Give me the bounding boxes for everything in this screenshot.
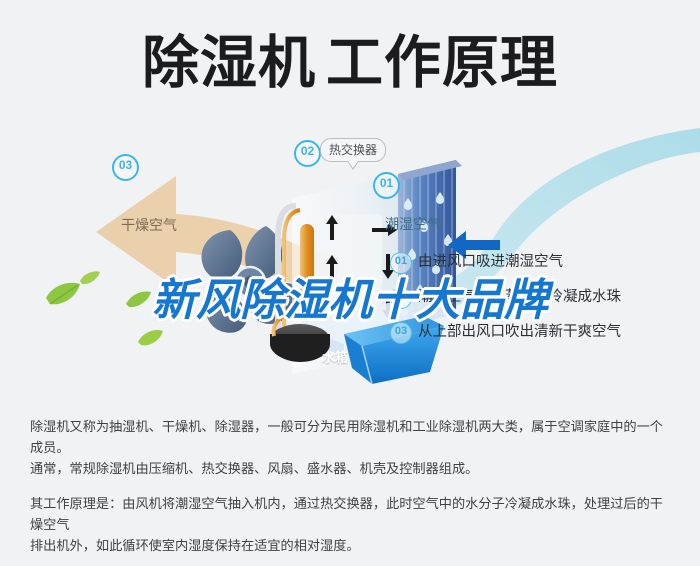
legend-item-01: 01 由进风口吸进潮湿空气 (390, 252, 690, 274)
page-title: 除湿机工作原理 (0, 28, 700, 98)
paragraph-1-line-1: 除湿机又称为抽湿机、干燥机、除湿器，一般可分为民用除湿机和工业除湿机两大类，属于… (30, 416, 676, 458)
paragraph-2-line-2: 排出机外，如此循环使室内湿度保持在适宜的相对湿度。 (30, 535, 676, 556)
heat-exchanger-callout: 热交换器 (320, 138, 386, 162)
paragraph-1-line-2: 通常，常规除湿机由压缩机、热交换器、风扇、盛水器、机壳及控制器组成。 (30, 458, 676, 479)
water-tank-label: 水箱 (322, 347, 348, 366)
page-root: 除湿机工作原理 (0, 0, 700, 566)
diagram-badge-02: 02 (294, 140, 321, 167)
legend-item-02: 02 潮湿空气经过蒸发器冷凝成水珠 (390, 287, 690, 309)
paragraph-2-line-1: 其工作原理是：由风机将潮湿空气抽入机内，通过热交换器，此时空气中的水分子冷凝成水… (30, 493, 676, 535)
legend-text-02: 潮湿空气经过蒸发器冷凝成水珠 (418, 287, 621, 307)
legend-text-01: 由进风口吸进潮湿空气 (418, 252, 563, 272)
legend-text-03: 从上部出风口吹出清新干爽空气 (418, 322, 621, 342)
page-title-part2: 工作原理 (326, 31, 558, 95)
page-title-part1: 除湿机 (142, 31, 316, 95)
legend-list: 01 由进风口吸进潮湿空气 02 潮湿空气经过蒸发器冷凝成水珠 03 从上部出风… (390, 252, 690, 357)
legend-item-03: 03 从上部出风口吹出清新干爽空气 (390, 322, 690, 344)
moist-air-label: 潮湿空气 (385, 214, 441, 234)
legend-number-03: 03 (390, 322, 412, 344)
legend-number-01: 01 (390, 252, 412, 274)
leaf-icon-group (46, 271, 163, 345)
paragraph-2: 其工作原理是：由风机将潮湿空气抽入机内，通过热交换器，此时空气中的水分子冷凝成水… (30, 493, 676, 556)
diagram-badge-03: 03 (112, 154, 139, 181)
body-copy: 除湿机又称为抽湿机、干燥机、除湿器，一般可分为民用除湿机和工业除湿机两大类，属于… (30, 416, 676, 556)
dry-air-label: 干燥空气 (121, 215, 177, 235)
paragraph-1: 除湿机又称为抽湿机、干燥机、除湿器，一般可分为民用除湿机和工业除湿机两大类，属于… (30, 416, 676, 479)
diagram-badge-01: 01 (373, 172, 400, 199)
legend-number-02: 02 (390, 287, 412, 309)
